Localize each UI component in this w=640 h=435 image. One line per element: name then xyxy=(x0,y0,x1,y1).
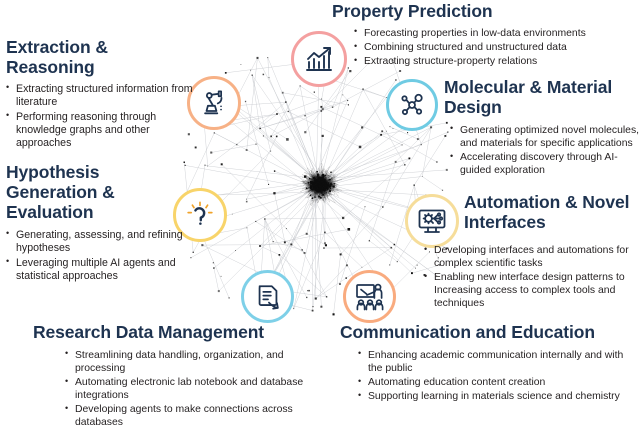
bullet-item: Streamlining data handling, organization… xyxy=(65,349,323,375)
bullet-item: Generating, assessing, and refining hypo… xyxy=(6,229,186,256)
section-hypothesis-generation-evaluation: Hypothesis Generation & Evaluation Gener… xyxy=(6,163,186,284)
bullet-item: Generating optimized novel molecules, an… xyxy=(450,124,640,150)
section-communication-education: Communication and Education Enhancing ac… xyxy=(340,323,640,404)
bullet-item: Developing agents to make connections ac… xyxy=(65,403,323,429)
section-molecular-material-design: Molecular & Material Design Generating o… xyxy=(444,78,640,178)
bullet-item: Extracting structure-property relations xyxy=(354,55,632,68)
section-extraction-reasoning: Extraction & Reasoning Extracting struct… xyxy=(6,38,196,152)
presentation-teaching-icon xyxy=(343,270,396,323)
section-heading: Molecular & Material Design xyxy=(444,78,640,118)
bullet-item: Performing reasoning through knowledge g… xyxy=(6,111,196,151)
bullet-item: Extracting structured information from l… xyxy=(6,83,196,110)
molecule-icon xyxy=(386,79,438,131)
monitor-gear-icon xyxy=(405,194,459,248)
bullet-item: Combining structured and unstructured da… xyxy=(354,41,632,54)
section-heading: Communication and Education xyxy=(340,323,640,343)
section-heading: Property Prediction xyxy=(332,2,632,22)
section-automation-novel-interfaces: Automation & Novel Interfaces xyxy=(464,193,640,236)
bullet-item: Accelerating discovery through AI-guided… xyxy=(450,151,640,177)
bullet-item: Forecasting properties in low-data envir… xyxy=(354,27,632,40)
bullet-item: Leveraging multiple AI agents and statis… xyxy=(6,257,186,284)
document-arrow-icon xyxy=(241,270,294,323)
bullet-item: Automating electronic lab notebook and d… xyxy=(65,376,323,402)
section-heading: Automation & Novel Interfaces xyxy=(464,193,640,233)
bullet-item: Supporting learning in materials science… xyxy=(358,390,640,403)
section-property-prediction: Property Prediction Forecasting properti… xyxy=(332,2,632,69)
bullet-item: Automating education content creation xyxy=(358,376,640,389)
section-heading: Research Data Management xyxy=(33,323,323,343)
section-automation-bullets: Developing interfaces and automations fo… xyxy=(424,244,640,312)
bullet-item: Enhancing academic communication interna… xyxy=(358,349,640,375)
section-research-data-management: Research Data Management Streamlining da… xyxy=(33,323,323,431)
section-heading: Hypothesis Generation & Evaluation xyxy=(6,163,186,223)
infographic-canvas: Extraction & Reasoning Extracting struct… xyxy=(0,0,640,435)
bullet-item: Developing interfaces and automations fo… xyxy=(424,244,640,270)
section-heading: Extraction & Reasoning xyxy=(6,38,196,78)
bullet-item: Enabling new interface design patterns t… xyxy=(424,271,640,310)
